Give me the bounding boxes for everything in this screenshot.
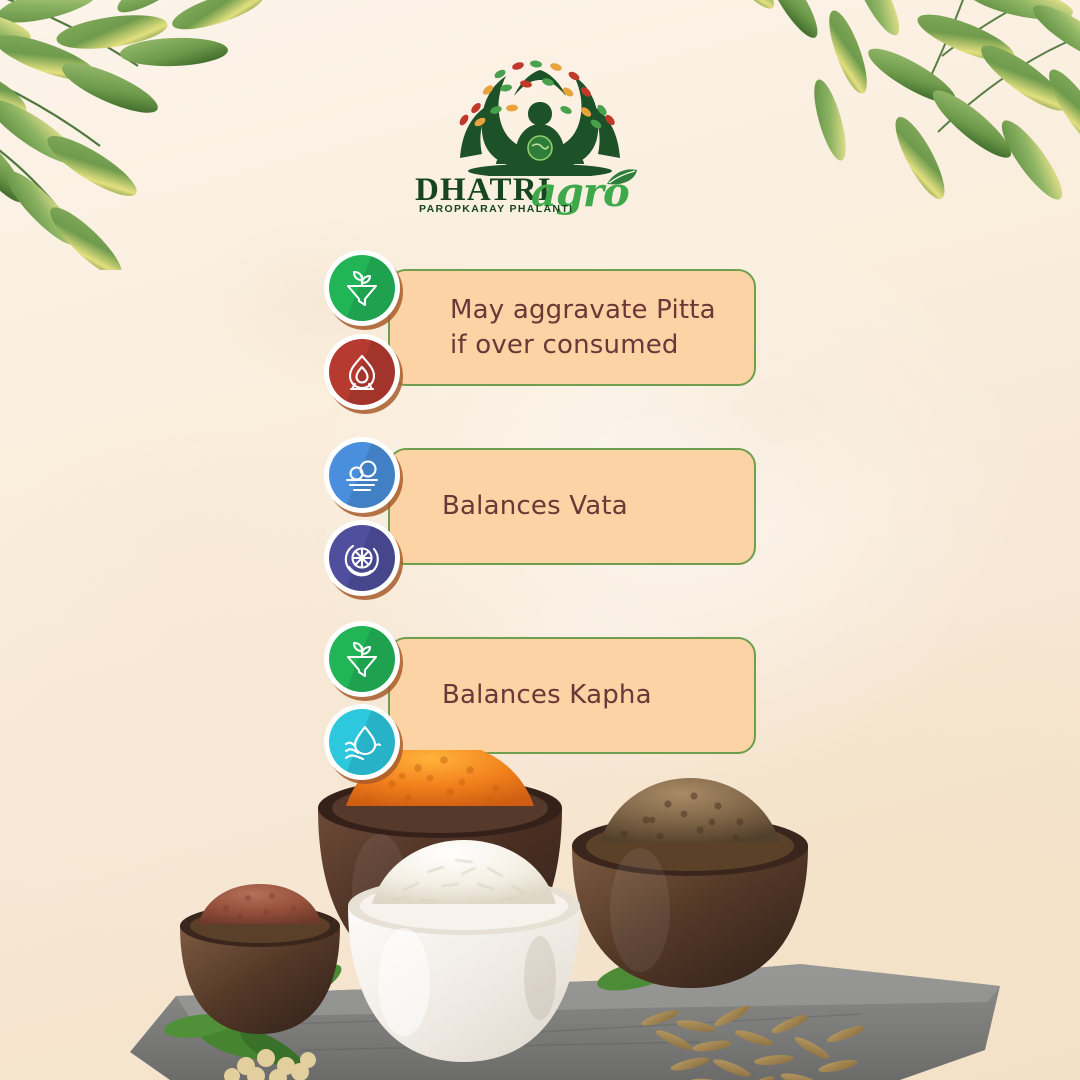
leaves-top-left [0, 0, 390, 270]
info-card-kapha-text: Balances Kapha [390, 678, 666, 713]
brand-logo: DHATRI agro PAROPKARAY PHALANTI [405, 58, 675, 220]
cloud-wind-icon[interactable] [324, 437, 400, 513]
info-card-vata-text: Balances Vata [390, 489, 642, 524]
sprout-funnel-icon[interactable] [324, 250, 400, 326]
paddy-husks [640, 1003, 867, 1080]
fire-flame-icon[interactable] [324, 334, 400, 410]
stone-slab [130, 964, 1000, 1080]
info-card-pitta-text: May aggravate Pitta if over consumed [390, 293, 730, 362]
info-card-pitta[interactable]: May aggravate Pitta if over consumed [388, 269, 756, 386]
curry-leaves [163, 951, 686, 1078]
bottom-product-photo [0, 750, 1080, 1080]
leaves-top-right [680, 0, 1080, 230]
water-drop-waves-icon[interactable] [324, 704, 400, 780]
bowl-orange-lentils [318, 750, 562, 978]
bowl-brown-lentils [572, 778, 808, 988]
sprout-funnel-icon[interactable] [324, 621, 400, 697]
logo-wordmark: DHATRI agro PAROPKARAY PHALANTI [405, 172, 675, 220]
soy-beans [224, 1049, 316, 1080]
info-card-kapha[interactable]: Balances Kapha [388, 637, 756, 754]
bowl-white-rice [348, 840, 580, 1062]
air-swirl-icon[interactable] [324, 520, 400, 596]
bowl-red-millet [180, 884, 340, 1034]
tree-with-meditating-figure-logo [440, 58, 640, 176]
info-card-vata[interactable]: Balances Vata [388, 448, 756, 565]
logo-tagline: PAROPKARAY PHALANTI [419, 203, 573, 215]
poster-canvas: DHATRI agro PAROPKARAY PHALANTI May aggr… [0, 0, 1080, 1080]
logo-leaf-icon [605, 168, 639, 188]
